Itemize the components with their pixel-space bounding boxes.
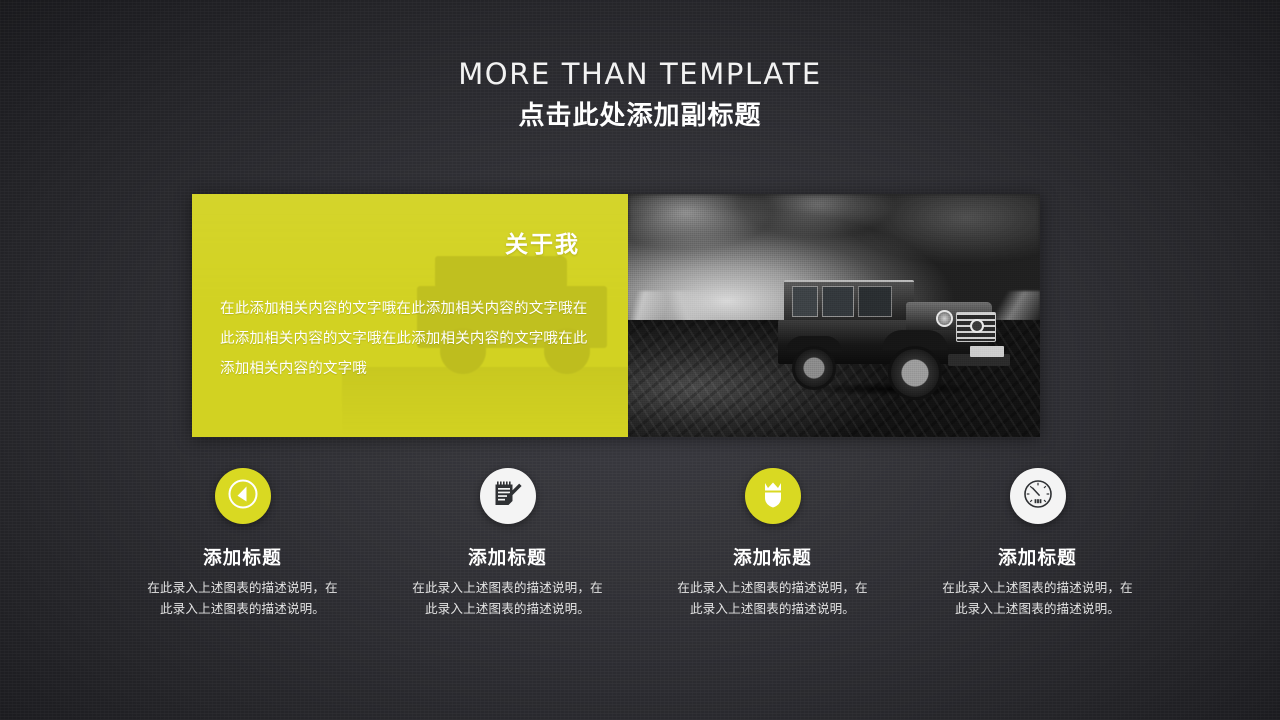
feature-item-2[interactable]: 添加标题 在此录入上述图表的描述说明，在此录入上述图表的描述说明。	[375, 468, 640, 619]
hero-photo[interactable]	[628, 194, 1040, 437]
page-subtitle: 点击此处添加副标题	[0, 102, 1280, 131]
notepad-pencil-icon	[492, 478, 524, 514]
feature-item-3[interactable]: 添加标题 在此录入上述图表的描述说明，在此录入上述图表的描述说明。	[640, 468, 905, 619]
feature-desc-3: 在此录入上述图表的描述说明，在此录入上述图表的描述说明。	[673, 578, 873, 619]
feature-badge-2[interactable]	[480, 468, 536, 524]
feature-item-4[interactable]: 添加标题 在此录入上述图表的描述说明，在此录入上述图表的描述说明。	[905, 468, 1170, 619]
feature-title-2: 添加标题	[468, 549, 547, 569]
about-band: 关于我 在此添加相关内容的文字哦在此添加相关内容的文字哦在此添加相关内容的文字哦…	[192, 194, 1040, 437]
feature-row: 添加标题 在此录入上述图表的描述说明，在此录入上述图表的描述说明。	[110, 468, 1170, 619]
crown-shield-icon	[757, 478, 789, 514]
feature-desc-2: 在此录入上述图表的描述说明，在此录入上述图表的描述说明。	[408, 578, 608, 619]
slide-canvas: MORE THAN TEMPLATE 点击此处添加副标题 关于我 在此添加相关内…	[0, 0, 1280, 720]
page-title: MORE THAN TEMPLATE	[0, 60, 1280, 89]
about-panel[interactable]: 关于我 在此添加相关内容的文字哦在此添加相关内容的文字哦在此添加相关内容的文字哦…	[192, 194, 628, 437]
feature-badge-4[interactable]	[1010, 468, 1066, 524]
feature-item-1[interactable]: 添加标题 在此录入上述图表的描述说明，在此录入上述图表的描述说明。	[110, 468, 375, 619]
about-body-text: 在此添加相关内容的文字哦在此添加相关内容的文字哦在此添加相关内容的文字哦在此添加…	[220, 295, 602, 385]
cursor-arrow-icon	[226, 477, 260, 515]
feature-title-3: 添加标题	[733, 549, 812, 569]
title-block: MORE THAN TEMPLATE 点击此处添加副标题	[0, 60, 1280, 131]
about-heading: 关于我	[505, 225, 580, 259]
feature-badge-3[interactable]	[745, 468, 801, 524]
speedometer-icon	[1021, 477, 1055, 515]
ghost-car-cabin	[435, 256, 567, 294]
feature-title-4: 添加标题	[998, 549, 1077, 569]
feature-desc-4: 在此录入上述图表的描述说明，在此录入上述图表的描述说明。	[938, 578, 1138, 619]
feature-title-1: 添加标题	[203, 549, 282, 569]
feature-desc-1: 在此录入上述图表的描述说明，在此录入上述图表的描述说明。	[143, 578, 343, 619]
photo-grain-texture	[628, 194, 1040, 437]
feature-badge-1[interactable]	[215, 468, 271, 524]
